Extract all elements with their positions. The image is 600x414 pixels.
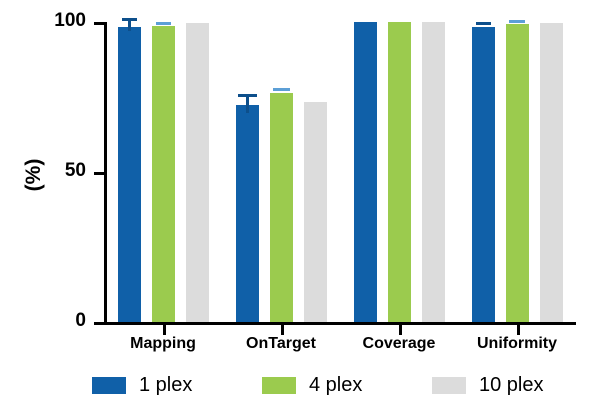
- legend-swatch-1plex: [92, 377, 126, 394]
- bar-ontarget-10plex: [304, 102, 327, 323]
- bar-coverage-10plex: [422, 22, 445, 322]
- bar-chart: (%) 100 50 0: [0, 0, 600, 414]
- legend-item-10plex: 10 plex: [432, 370, 544, 400]
- y-tick-label-0: 0: [40, 311, 86, 330]
- legend-swatch-10plex: [432, 377, 466, 394]
- x-label-ontarget: OnTarget: [222, 335, 340, 353]
- legend-label-1plex: 1 plex: [139, 374, 192, 397]
- errorbar-cap-uniformity-4plex: [509, 20, 525, 23]
- y-tick-100: [94, 22, 104, 25]
- x-tick-ontarget: [281, 325, 284, 335]
- errorbar-cap-mapping-1plex: [122, 18, 137, 21]
- errorbar-cap-mapping-4plex: [156, 22, 171, 25]
- legend-label-10plex: 10 plex: [479, 374, 544, 397]
- y-tick-50: [94, 172, 104, 175]
- bar-ontarget-1plex: [236, 105, 259, 322]
- errorbar-ontarget-1plex: [246, 95, 249, 113]
- y-tick-label-100: 100: [40, 11, 86, 30]
- x-tick-mapping: [163, 325, 166, 335]
- x-axis-line: [104, 322, 576, 325]
- legend-swatch-4plex: [262, 377, 296, 394]
- chart-legend: 1 plex 4 plex 10 plex: [92, 370, 592, 404]
- bar-mapping-1plex: [118, 27, 141, 322]
- plot-area: [104, 22, 576, 322]
- bar-uniformity-4plex: [506, 24, 529, 323]
- x-label-uniformity: Uniformity: [458, 335, 576, 353]
- bar-uniformity-10plex: [540, 23, 563, 322]
- errorbar-cap-uniformity-1plex: [476, 22, 491, 25]
- y-tick-label-50: 50: [40, 161, 86, 180]
- bar-ontarget-4plex: [270, 93, 293, 322]
- legend-item-4plex: 4 plex: [262, 370, 362, 400]
- x-label-mapping: Mapping: [104, 335, 222, 353]
- x-label-coverage: Coverage: [340, 335, 458, 353]
- bar-mapping-10plex: [186, 23, 209, 322]
- bar-uniformity-1plex: [472, 27, 495, 323]
- legend-item-1plex: 1 plex: [92, 370, 192, 400]
- errorbar-cap-ontarget-1plex: [238, 94, 257, 97]
- errorbar-cap-ontarget-4plex: [273, 88, 290, 91]
- x-tick-coverage: [399, 325, 402, 335]
- bar-coverage-1plex: [354, 22, 377, 322]
- bar-mapping-4plex: [152, 26, 175, 322]
- x-tick-uniformity: [517, 325, 520, 335]
- legend-label-4plex: 4 plex: [309, 374, 362, 397]
- y-tick-0: [94, 322, 104, 325]
- bar-coverage-4plex: [388, 22, 411, 322]
